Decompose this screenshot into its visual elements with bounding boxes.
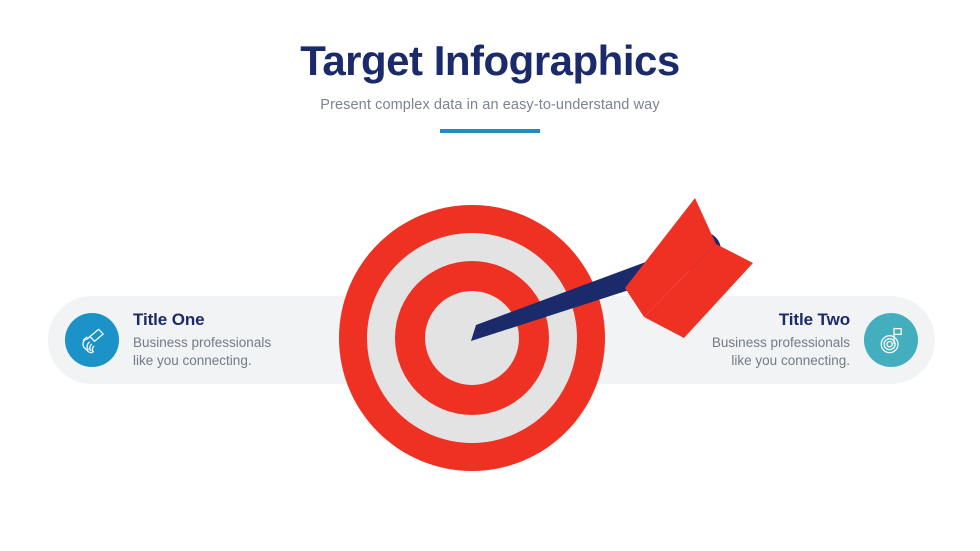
header: Target Infographics Present complex data…: [0, 38, 980, 133]
megaphone-icon: [77, 325, 107, 355]
target-flag-icon: [876, 325, 906, 355]
dartboard-with-dart-graphic: [295, 175, 765, 515]
panel-one-title: Title One: [133, 309, 271, 330]
panel-one-text: Title One Business professionals like yo…: [119, 309, 285, 371]
page-title: Target Infographics: [0, 38, 980, 83]
page-subtitle: Present complex data in an easy-to-under…: [0, 97, 980, 113]
panel-one-body-line1: Business professionals: [133, 334, 271, 353]
panel-one-body-line2: like you connecting.: [133, 352, 271, 371]
title-underline-accent: [440, 129, 540, 133]
megaphone-icon-badge[interactable]: [65, 313, 119, 367]
slide-canvas: Target Infographics Present complex data…: [0, 0, 980, 551]
target-flag-icon-badge[interactable]: [864, 313, 918, 367]
